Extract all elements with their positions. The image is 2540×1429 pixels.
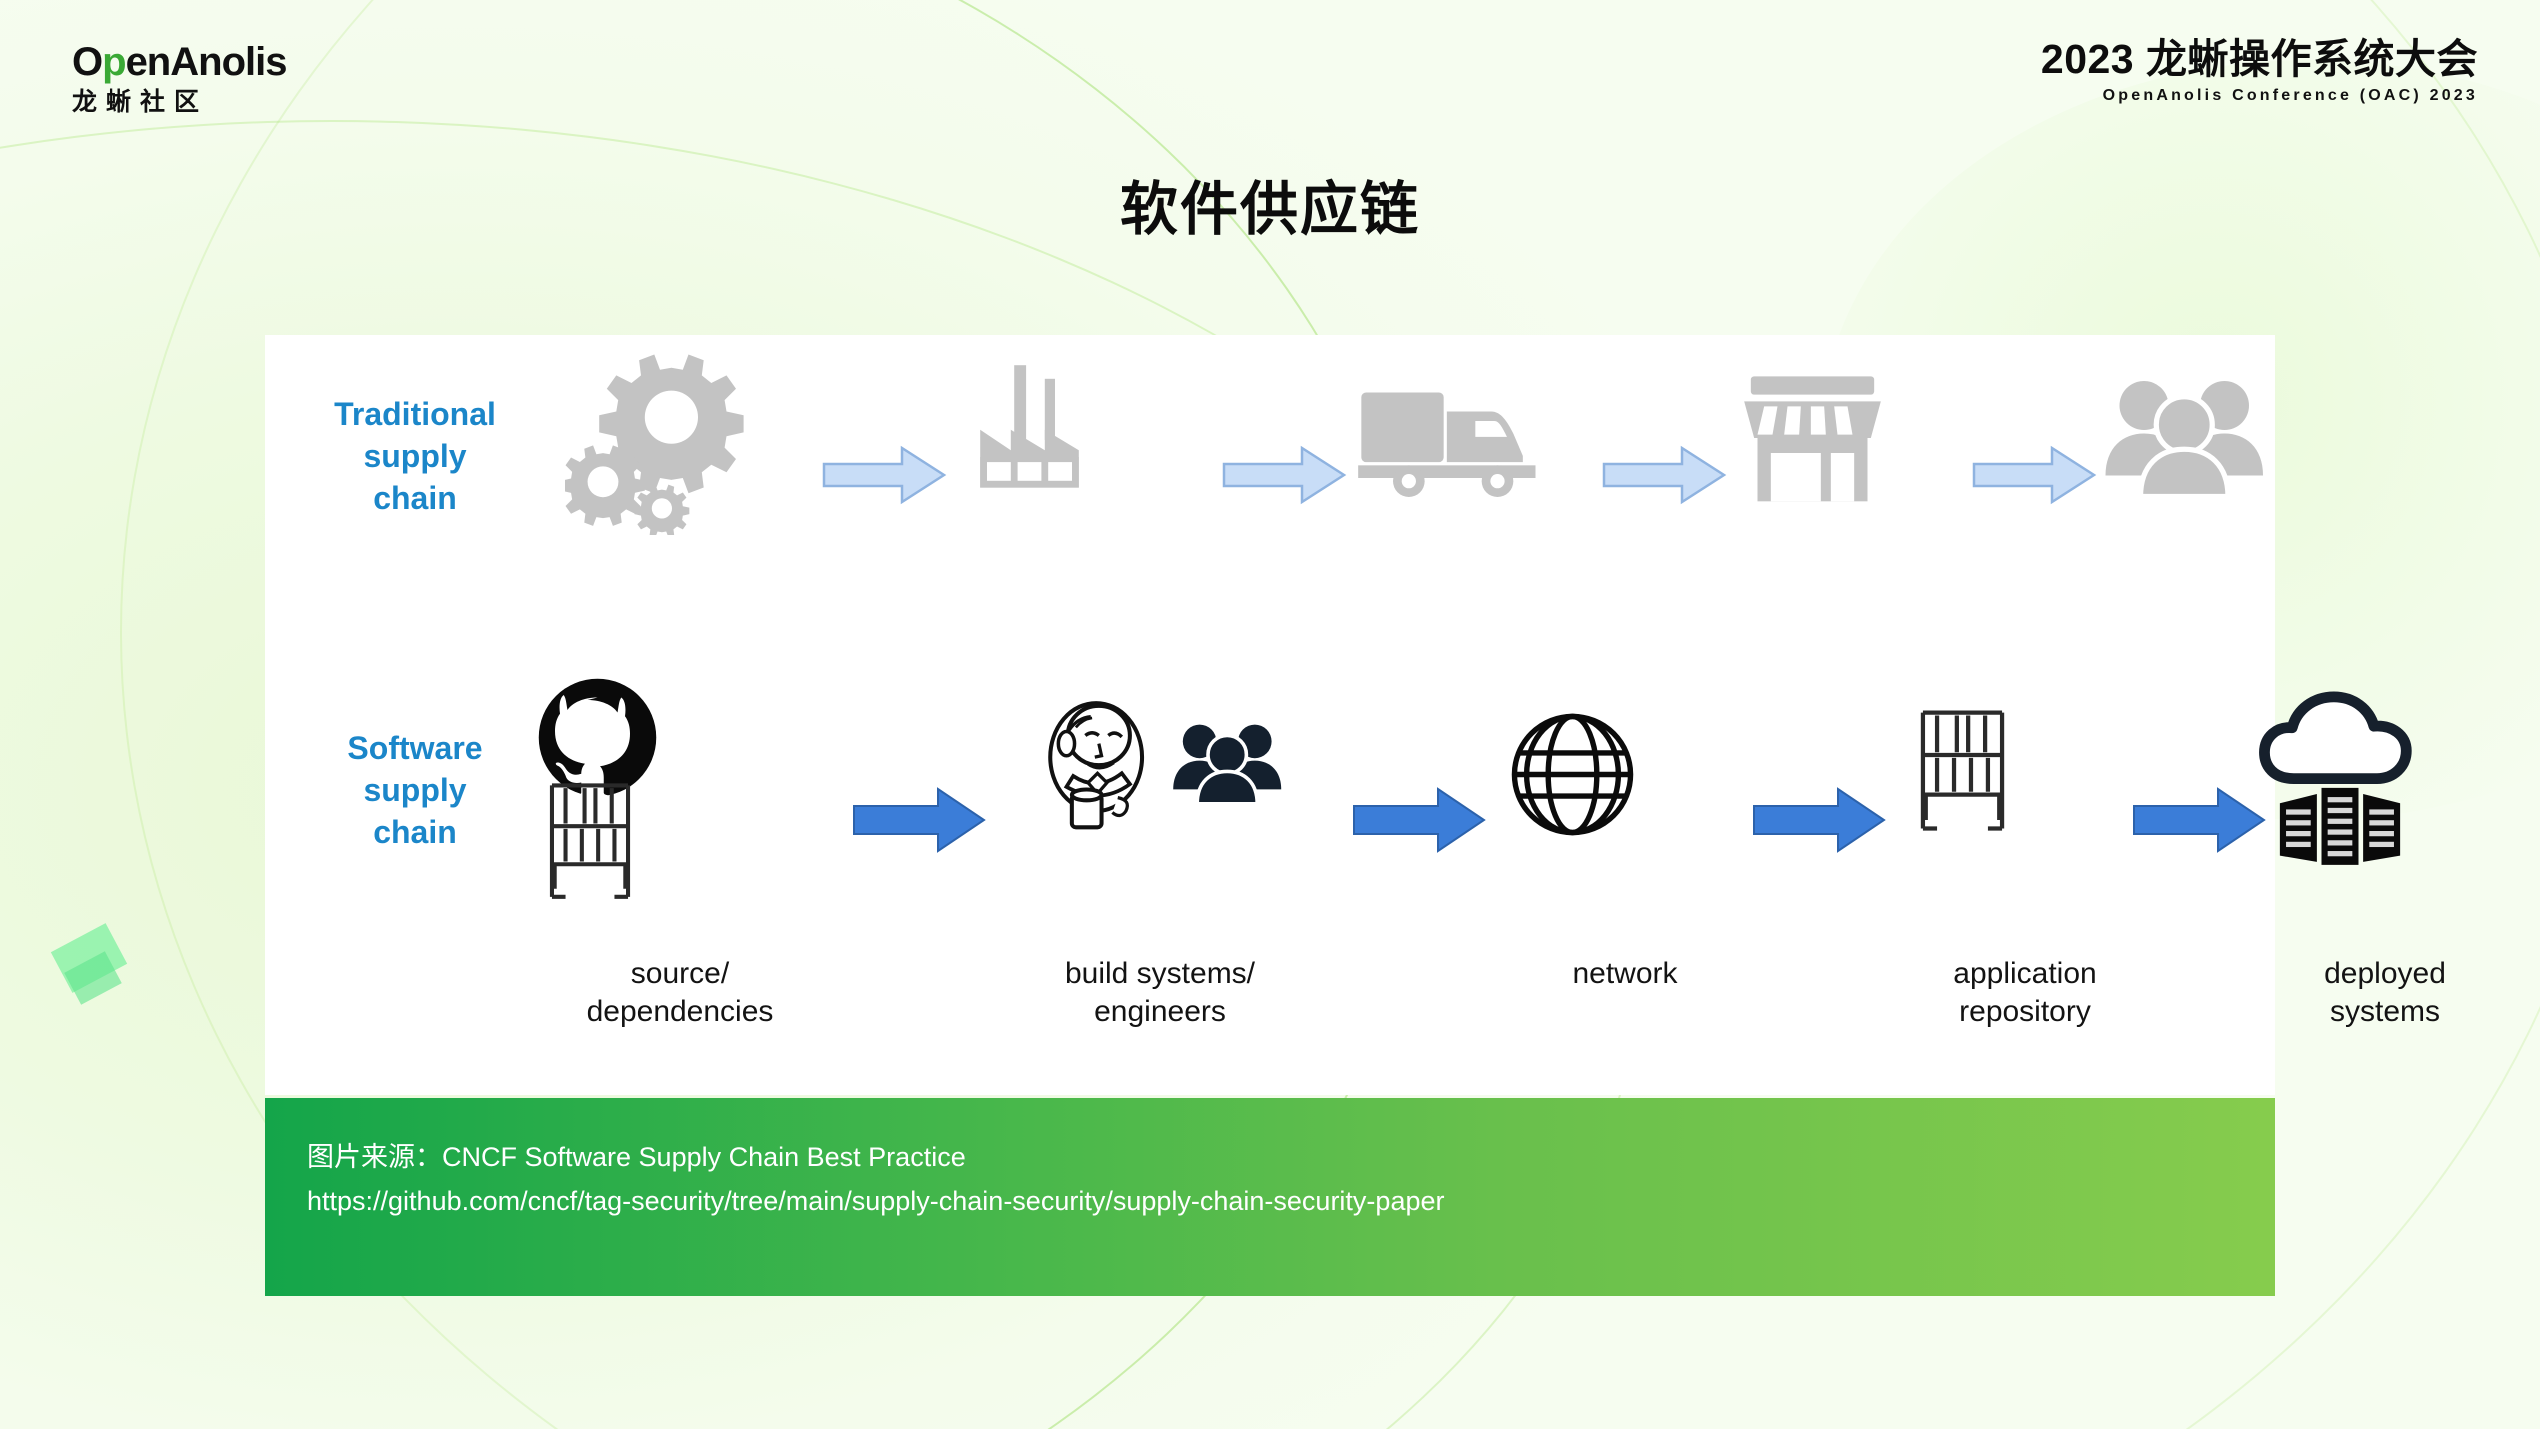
caption-line-2: repository [1905,993,2145,1031]
arrow-software-1 [825,770,1015,870]
row-label-software-line3: chain [295,811,535,853]
caption-build-systems-engineers: build systems/ engineers [995,955,1325,1032]
cloud-servers-icon [2255,683,2515,868]
row-label-traditional-line1: Traditional [295,393,535,435]
logo-rest: enAnolis [126,42,287,82]
arrow-software-2 [1325,770,1515,870]
step-gears [565,345,795,535]
arrow-traditional-3 [1575,425,1755,525]
factory-icon [965,355,1195,525]
gears-icon [565,345,795,535]
caption-line-1: build systems/ [995,955,1325,993]
caption-line-2: dependencies [535,993,825,1031]
row-software-supply-chain: Software supply chain [265,665,2275,1095]
step-build-systems-engineers [995,695,1325,830]
globe-wireframe-icon [1505,707,1745,842]
people-team-icon [1166,713,1286,813]
source-url-link[interactable]: https://github.com/cncf/tag-security/tre… [307,1180,2233,1224]
arrow-software-3 [1725,770,1915,870]
image-source-band: 图片来源：CNCF Software Supply Chain Best Pra… [265,1098,2275,1296]
openanolis-logo: OpenAnolis 龙蜥社区 [72,42,282,115]
logo-leaf-letter: p [102,42,125,82]
caption-line-2: engineers [995,993,1325,1031]
jenkins-butler-icon [1035,695,1160,830]
conference-subtitle: OpenAnolis Conference (OAC) 2023 [2041,87,2478,105]
shelf-rack-icon [535,780,825,905]
store-icon [1735,363,1965,513]
arrow-traditional-1 [795,425,975,525]
people-group-icon [2095,367,2325,507]
step-network [1505,707,1745,842]
truck-icon [1355,365,1585,515]
caption-deployed-systems: deployed systems [2255,955,2515,1032]
arrow-traditional-2 [1195,425,1375,525]
logo-letter-o: O [72,42,102,82]
caption-network: network [1505,955,1745,993]
conference-title: 2023 龙蜥操作系统大会 [2041,38,2478,81]
row-label-traditional: Traditional supply chain [295,393,535,520]
diagram-card: Traditional supply chain [265,335,2275,1095]
caption-line-1: application [1905,955,2145,993]
step-store [1735,363,1965,513]
conference-branding: 2023 龙蜥操作系统大会 OpenAnolis Conference (OAC… [2041,38,2478,105]
page-title: 软件供应链 [0,162,2540,246]
row-label-software-line1: Software [295,727,535,769]
row-traditional-supply-chain: Traditional supply chain [265,335,2275,665]
row-label-traditional-line3: chain [295,477,535,519]
caption-line-1: source/ [535,955,825,993]
caption-line-1: network [1505,955,1745,993]
caption-line-2: systems [2255,993,2515,1031]
step-deployed-systems [2255,683,2515,868]
step-truck [1355,365,1585,515]
logo-wordmark: OpenAnolis [72,42,282,82]
step-source-dependencies [535,675,825,905]
logo-chinese-name: 龙蜥社区 [72,90,282,115]
slide-root: OpenAnolis 龙蜥社区 2023 龙蜥操作系统大会 OpenAnolis… [0,0,2540,1429]
row-label-traditional-line2: supply [295,435,535,477]
step-factory [965,355,1195,525]
source-credit-text: 图片来源：CNCF Software Supply Chain Best Pra… [307,1136,2233,1180]
row-label-software-line2: supply [295,769,535,811]
caption-application-repository: application repository [1905,955,2145,1032]
step-consumers [2095,367,2325,507]
row-label-software: Software supply chain [295,727,535,854]
caption-line-1: deployed [2255,955,2515,993]
caption-source-dependencies: source/ dependencies [535,955,825,1032]
